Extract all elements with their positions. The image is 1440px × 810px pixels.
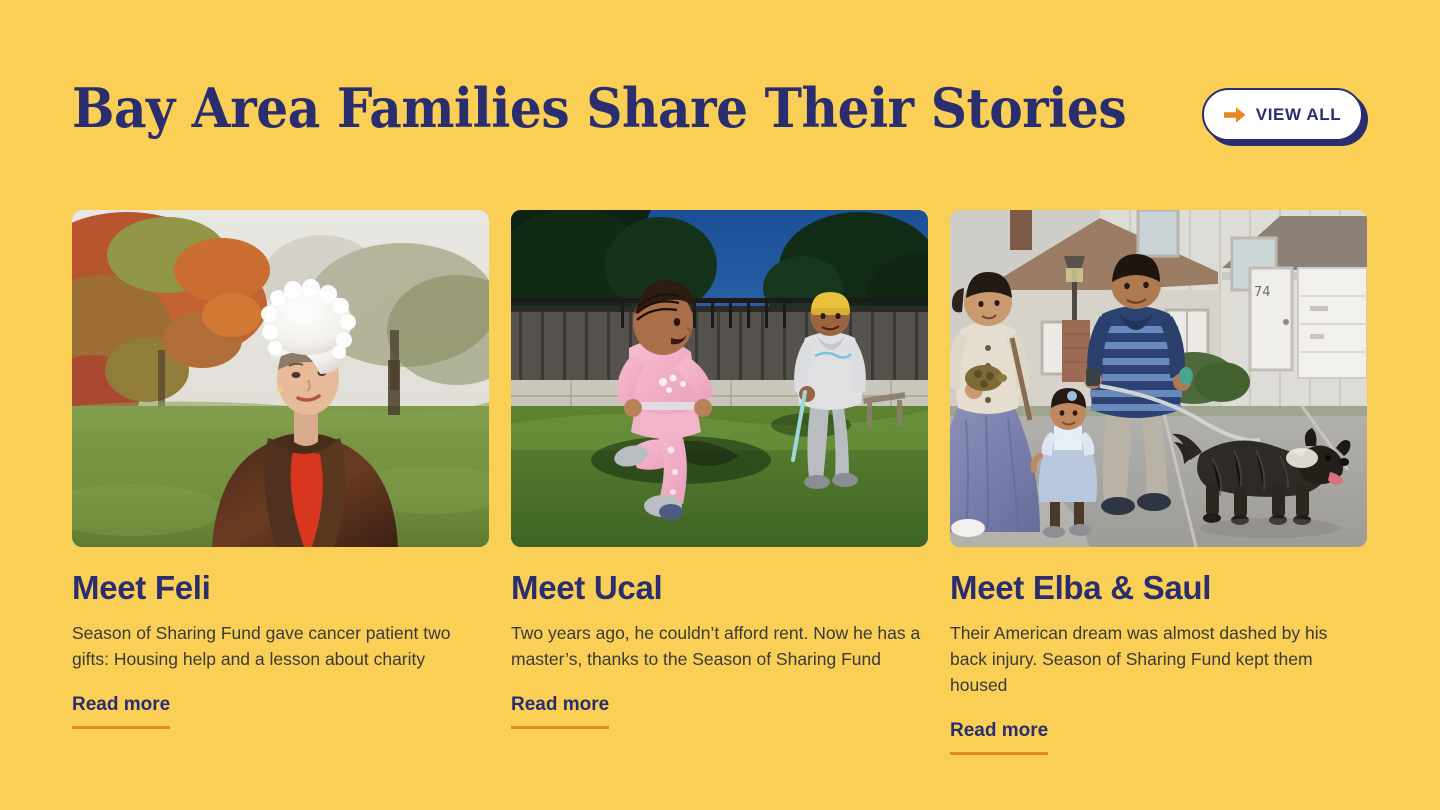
story-description: Two years ago, he couldn’t afford rent. … [511,620,928,672]
story-photo-elba-saul[interactable]: 74 [950,210,1367,547]
section-header: Bay Area Families Share Their Stories VI… [72,76,1368,148]
story-description: Season of Sharing Fund gave cancer patie… [72,620,489,672]
story-title: Meet Elba & Saul [950,569,1367,607]
story-card-grid: Meet Feli Season of Sharing Fund gave ca… [72,210,1368,755]
story-card: 74 [950,210,1367,755]
view-all-button-wrapper: VIEW ALL [1202,88,1368,146]
read-more-link[interactable]: Read more [511,693,609,729]
story-photo-feli[interactable] [72,210,489,547]
svg-text:74: 74 [1254,285,1271,300]
read-more-link[interactable]: Read more [72,693,170,729]
arrow-right-icon [1224,106,1246,124]
photo-illustration-ucal [511,210,928,547]
photo-illustration-feli [72,210,489,547]
story-card: Meet Ucal Two years ago, he couldn’t aff… [511,210,928,755]
page-title: Bay Area Families Share Their Stories [72,76,1126,140]
stories-section: Bay Area Families Share Their Stories VI… [0,0,1440,810]
story-title: Meet Feli [72,569,489,607]
view-all-label: VIEW ALL [1256,105,1341,125]
story-photo-ucal[interactable] [511,210,928,547]
story-description: Their American dream was almost dashed b… [950,620,1367,698]
read-more-link[interactable]: Read more [950,719,1048,755]
story-card: Meet Feli Season of Sharing Fund gave ca… [72,210,489,755]
photo-illustration-elba-saul: 74 [950,210,1367,547]
view-all-button[interactable]: VIEW ALL [1202,88,1363,141]
story-title: Meet Ucal [511,569,928,607]
